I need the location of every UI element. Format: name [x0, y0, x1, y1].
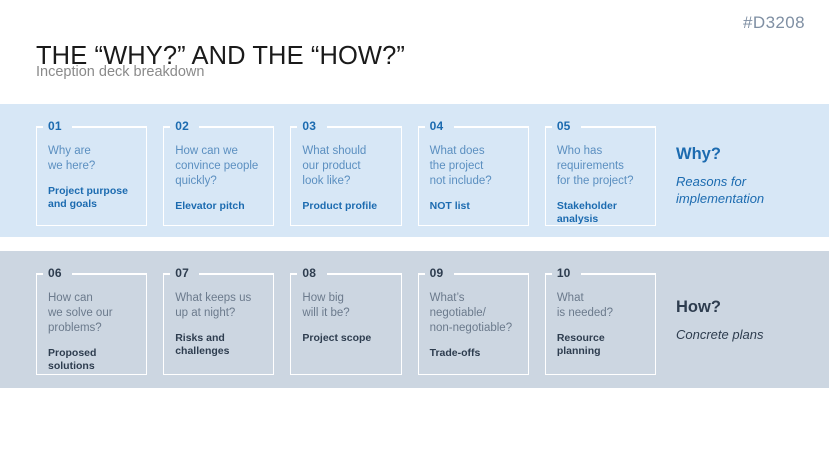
card-02[interactable]: 02 How can we convince people quickly? E… [163, 118, 274, 226]
card-number: 05 [557, 118, 571, 134]
card-question: Who has requirements for the project? [557, 144, 648, 189]
card-answer: Stakeholder analysis [557, 200, 648, 226]
card-question: What does the project not include? [430, 144, 521, 189]
card-body: How can we convince people quickly? Elev… [175, 144, 266, 213]
card-body: What should our product look like? Produ… [302, 144, 393, 213]
card-question: What keeps us up at night? [175, 291, 266, 321]
band-why-label: Why? Reasons for implementation [676, 144, 826, 207]
card-answer: Product profile [302, 200, 393, 213]
card-number: 03 [302, 118, 316, 134]
card-question: How big will it be? [302, 291, 393, 321]
card-row-why: 01 Why are we here? Project purpose and … [36, 104, 656, 237]
band-how-label: How? Concrete plans [676, 297, 826, 343]
card-08[interactable]: 08 How big will it be? Project scope [290, 265, 401, 375]
card-body: What’s negotiable/ non-negotiable? Trade… [430, 291, 521, 360]
band-why: 01 Why are we here? Project purpose and … [0, 104, 829, 237]
card-question: What is needed? [557, 291, 648, 321]
card-body: How can we solve our problems? Proposed … [48, 291, 139, 373]
band-why-title: Why? [676, 144, 826, 164]
card-number: 01 [48, 118, 62, 134]
card-number: 02 [175, 118, 189, 134]
card-body: What does the project not include? NOT l… [430, 144, 521, 213]
card-06[interactable]: 06 How can we solve our problems? Propos… [36, 265, 147, 375]
slide: #D3208 THE “WHY?” AND THE “HOW?” Incepti… [0, 0, 829, 466]
band-how-title: How? [676, 297, 826, 317]
card-answer: Resource planning [557, 332, 648, 358]
card-body: What keeps us up at night? Risks and cha… [175, 291, 266, 358]
card-09[interactable]: 09 What’s negotiable/ non-negotiable? Tr… [418, 265, 529, 375]
card-body: Who has requirements for the project? St… [557, 144, 648, 226]
card-question: Why are we here? [48, 144, 139, 174]
band-why-subtitle: Reasons for implementation [676, 173, 826, 207]
card-10[interactable]: 10 What is needed? Resource planning [545, 265, 656, 375]
band-how: 06 How can we solve our problems? Propos… [0, 251, 829, 388]
card-07[interactable]: 07 What keeps us up at night? Risks and … [163, 265, 274, 375]
card-number: 07 [175, 265, 189, 281]
card-row-how: 06 How can we solve our problems? Propos… [36, 251, 656, 388]
card-number: 08 [302, 265, 316, 281]
card-question: What’s negotiable/ non-negotiable? [430, 291, 521, 336]
card-question: How can we solve our problems? [48, 291, 139, 336]
slide-code: #D3208 [743, 13, 805, 33]
page-subtitle: Inception deck breakdown [36, 64, 204, 80]
card-answer: Proposed solutions [48, 347, 139, 373]
card-04[interactable]: 04 What does the project not include? NO… [418, 118, 529, 226]
card-answer: Trade-offs [430, 347, 521, 360]
card-01[interactable]: 01 Why are we here? Project purpose and … [36, 118, 147, 226]
card-answer: NOT list [430, 200, 521, 213]
card-question: What should our product look like? [302, 144, 393, 189]
card-answer: Project scope [302, 332, 393, 345]
card-body: What is needed? Resource planning [557, 291, 648, 358]
card-answer: Risks and challenges [175, 332, 266, 358]
band-how-subtitle: Concrete plans [676, 326, 826, 343]
card-body: How big will it be? Project scope [302, 291, 393, 345]
card-number: 10 [557, 265, 571, 281]
card-number: 09 [430, 265, 444, 281]
slide-header: #D3208 THE “WHY?” AND THE “HOW?” Incepti… [0, 0, 829, 104]
card-03[interactable]: 03 What should our product look like? Pr… [290, 118, 401, 226]
card-body: Why are we here? Project purpose and goa… [48, 144, 139, 211]
card-number: 04 [430, 118, 444, 134]
card-answer: Elevator pitch [175, 200, 266, 213]
card-05[interactable]: 05 Who has requirements for the project?… [545, 118, 656, 226]
card-question: How can we convince people quickly? [175, 144, 266, 189]
card-answer: Project purpose and goals [48, 185, 139, 211]
card-number: 06 [48, 265, 62, 281]
